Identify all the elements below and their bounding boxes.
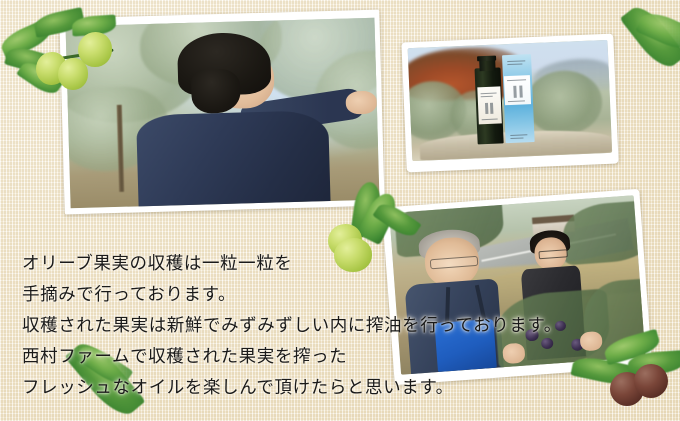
ripe-olive-icon	[634, 364, 668, 398]
leaf-icon	[4, 44, 56, 77]
photo-harvest-boy	[59, 10, 384, 215]
copy-line-1: オリーブ果実の収穫は一粒一粒を	[22, 250, 622, 277]
photo-olive-oil-bottle-image	[408, 40, 613, 161]
olive-leaf-illustration-top-right	[612, 14, 680, 118]
leaf-icon	[0, 18, 54, 59]
copy-line-5: フレッシュなオイルを楽しんで頂けたらと思います。	[22, 374, 622, 401]
leaf-icon	[16, 57, 64, 98]
leaf-icon	[635, 7, 680, 54]
oil-bottle-label	[477, 86, 502, 124]
photo-harvest-boy-image	[66, 18, 380, 209]
copy-line-2: 手摘みで行っております。	[22, 281, 622, 308]
promo-banner: オリーブ果実の収穫は一粒一粒を 手摘みで行っております。 収穫された果実は新鮮で…	[0, 0, 680, 421]
branch-stem	[333, 223, 384, 252]
leaf-icon	[620, 0, 680, 74]
boy-torso	[136, 110, 330, 208]
product-box-label	[504, 75, 531, 105]
promo-copy-block: オリーブ果実の収穫は一粒一粒を 手摘みで行っております。 収穫された果実は新鮮で…	[22, 250, 622, 405]
copy-line-3: 収穫された果実は新鮮でみずみずしい内に搾油を行っております。	[22, 312, 622, 339]
photo-olive-oil-bottle	[401, 34, 618, 173]
copy-line-4: 西村ファームで収穫された果実を搾った	[22, 343, 622, 370]
